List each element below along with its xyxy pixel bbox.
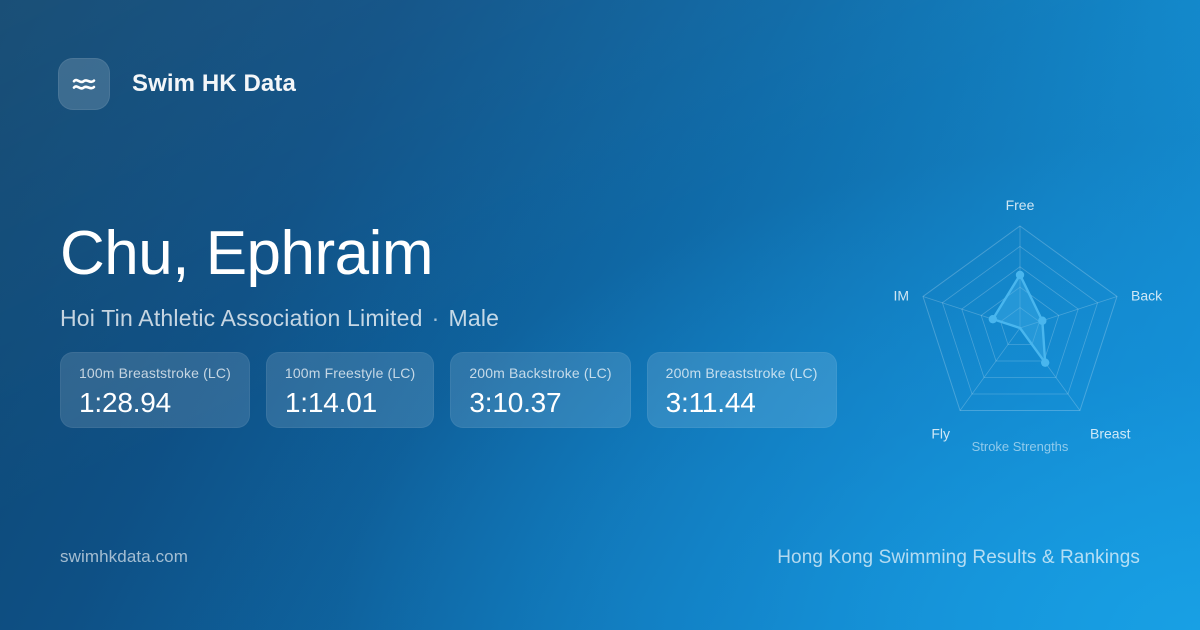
stat-card[interactable]: 100m Breaststroke (LC) 1:28.94 (60, 352, 250, 428)
stat-card-event: 100m Breaststroke (LC) (79, 365, 231, 381)
radar-axis-label-breast: Breast (1090, 426, 1131, 442)
stat-card[interactable]: 200m Breaststroke (LC) 3:11.44 (647, 352, 837, 428)
stat-card-event: 200m Breaststroke (LC) (666, 365, 818, 381)
radar-data-point (1016, 271, 1024, 279)
radar-data-point (1038, 317, 1046, 325)
athlete-club: Hoi Tin Athletic Association Limited (60, 305, 423, 331)
radar-axis-label-fly: Fly (931, 426, 950, 442)
footer-tagline: Hong Kong Swimming Results & Rankings (777, 547, 1140, 569)
radar-caption: Stroke Strengths (972, 439, 1069, 454)
brand[interactable]: Swim HK Data (58, 58, 296, 110)
radar-data-point (1041, 358, 1049, 366)
wave-approx-icon (69, 69, 99, 99)
stat-card[interactable]: 200m Backstroke (LC) 3:10.37 (450, 352, 630, 428)
athlete-meta: Hoi Tin Athletic Association Limited·Mal… (60, 305, 860, 332)
radar-axis-label-im: IM (893, 288, 909, 304)
stat-card-time: 1:28.94 (79, 387, 231, 419)
radar-series (993, 275, 1045, 363)
brand-name: Swim HK Data (132, 70, 296, 98)
og-card-root: Swim HK Data Chu, Ephraim Hoi Tin Athlet… (0, 0, 1200, 630)
radar-axis-label-free: Free (1006, 197, 1035, 213)
stat-card-event: 200m Backstroke (LC) (469, 365, 611, 381)
hero: Chu, Ephraim Hoi Tin Athletic Associatio… (60, 222, 860, 332)
meta-separator: · (423, 305, 449, 331)
stat-card-time: 1:14.01 (285, 387, 415, 419)
footer-site[interactable]: swimhkdata.com (60, 547, 188, 567)
stat-card[interactable]: 100m Freestyle (LC) 1:14.01 (266, 352, 434, 428)
athlete-gender: Male (448, 305, 499, 331)
stroke-strengths-radar-chart: FreeBackBreastFlyIM Stroke Strengths (880, 172, 1170, 472)
brand-logo (58, 58, 110, 110)
radar-spoke (960, 328, 1020, 411)
stat-card-event: 100m Freestyle (LC) (285, 365, 415, 381)
radar-series-polygon (993, 275, 1045, 363)
radar-axis-label-back: Back (1131, 288, 1163, 304)
page-title: Chu, Ephraim (60, 222, 860, 285)
radar-data-point (989, 315, 997, 323)
stat-card-list: 100m Breaststroke (LC) 1:28.94 100m Free… (60, 352, 837, 428)
stat-card-time: 3:11.44 (666, 387, 818, 419)
stat-card-time: 3:10.37 (469, 387, 611, 419)
